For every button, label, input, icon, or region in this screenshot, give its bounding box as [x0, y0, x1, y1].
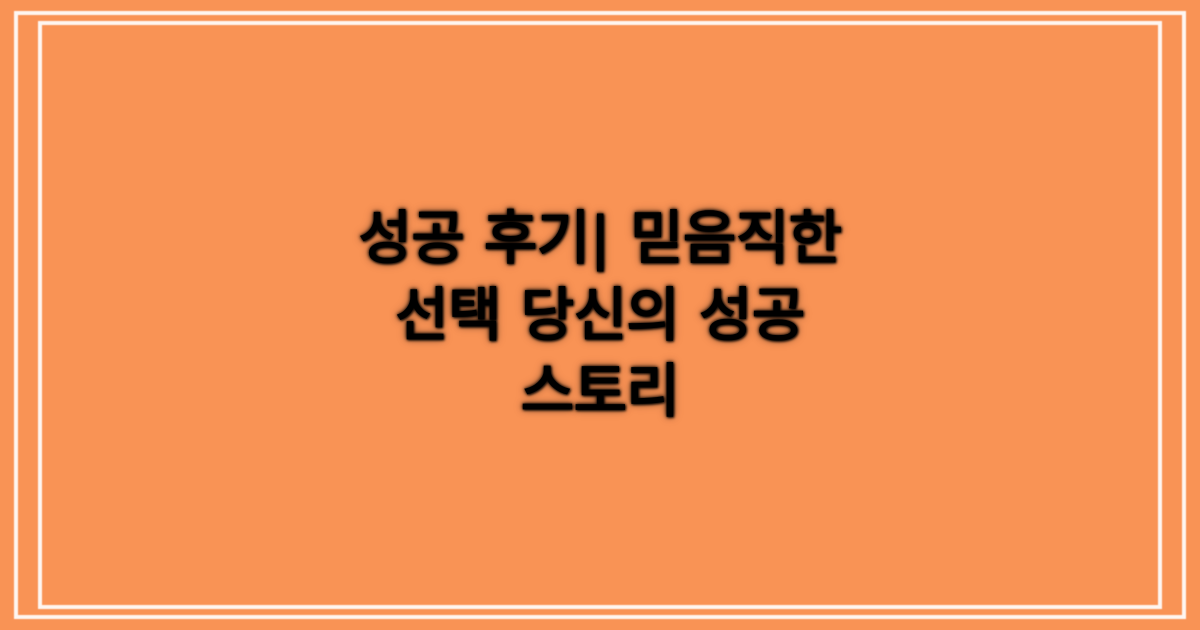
banner-headline: 성공 후기| 믿음직한 선택 당신의 성공 스토리 — [320, 200, 880, 430]
promo-banner: 성공 후기| 믿음직한 선택 당신의 성공 스토리 — [0, 0, 1200, 630]
headline-container: 성공 후기| 믿음직한 선택 당신의 성공 스토리 — [0, 0, 1200, 630]
